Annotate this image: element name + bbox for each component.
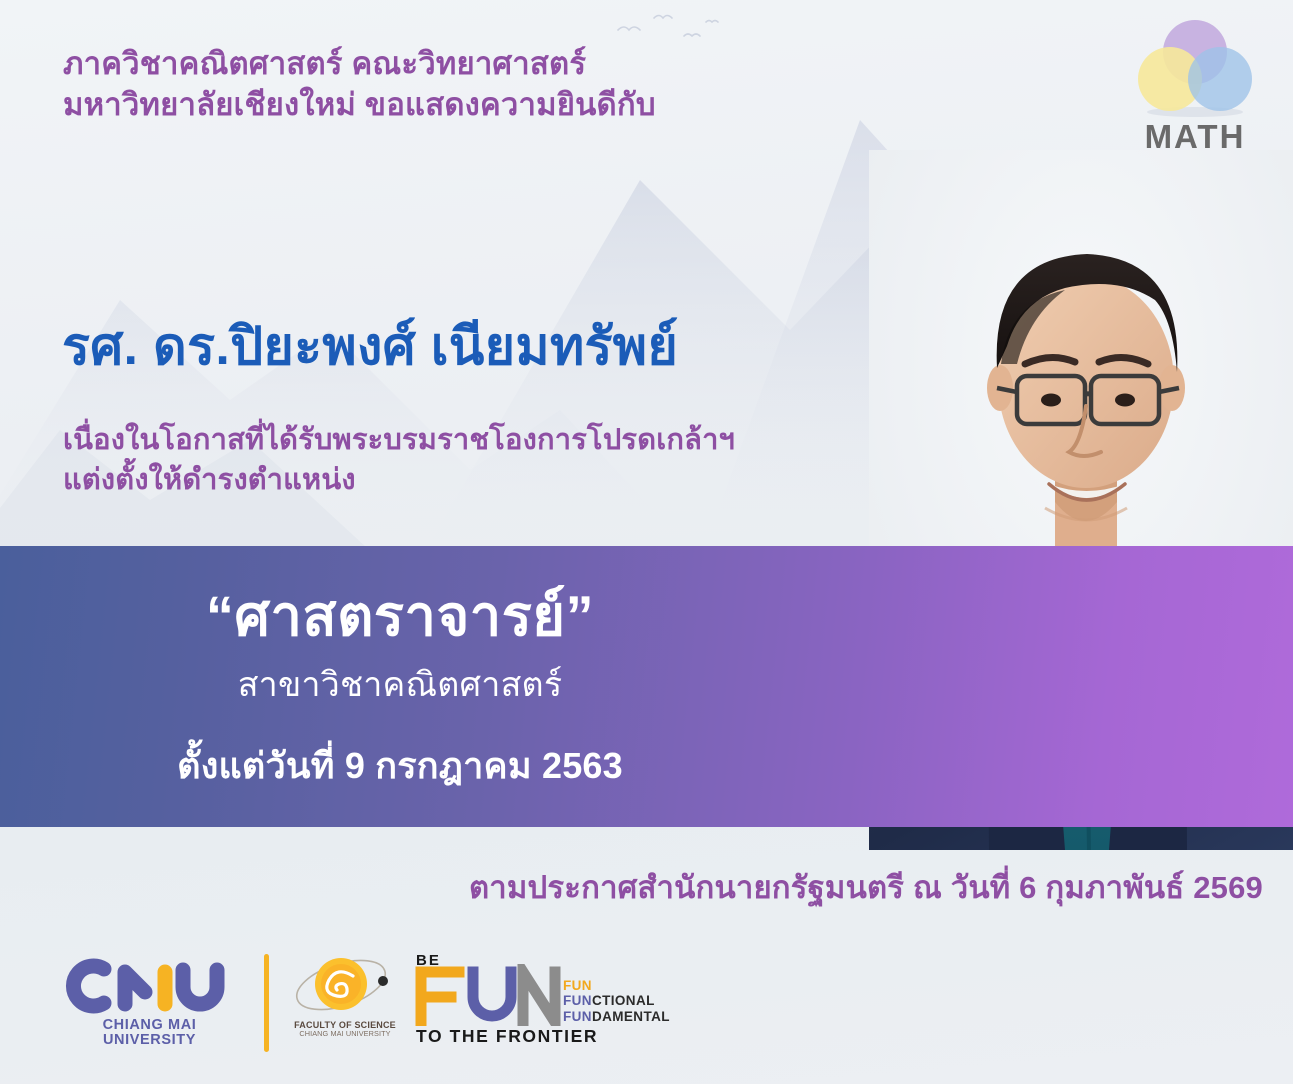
- honoree-name: รศ. ดร.ปิยะพงศ์ เนียมทรัพย์: [62, 318, 678, 378]
- fun-stack-line-2: FUNCTIONAL: [563, 993, 670, 1008]
- banner-content: “ศาสตราจารย์” สาขาวิชาคณิตศาสตร์ ตั้งแต่…: [0, 546, 800, 827]
- footer-divider: [264, 954, 269, 1052]
- fun-wordmark-icon: [413, 964, 561, 1026]
- faculty-of-science-logo: FACULTY OF SCIENCE CHIANG MAI UNIVERSITY: [291, 952, 399, 1052]
- fun-stack-3-prefix: FUN: [563, 1009, 592, 1024]
- math-wordmark: MATH: [1125, 120, 1265, 153]
- appointment-reason: เนื่องในโอกาสที่ได้รับพระบรมราชโองการโปร…: [63, 420, 883, 500]
- fun-stack-3-suffix: DAMENTAL: [592, 1009, 670, 1024]
- fun-stack-2-prefix: FUN: [563, 993, 592, 1008]
- position-field: สาขาวิชาคณิตศาสตร์: [0, 668, 800, 702]
- fun-stack-2-suffix: CTIONAL: [592, 993, 655, 1008]
- be-fun-logo: BE FUN FUNCTIONAL FUNDAMENTAL TO THE FRO…: [413, 950, 713, 1055]
- header-line-1: ภาควิชาคณิตศาสตร์ คณะวิทยาศาสตร์: [63, 44, 823, 85]
- fun-frontier-label: TO THE FRONTIER: [416, 1026, 598, 1047]
- announcement-text: ตามประกาศสำนักนายกรัฐมนตรี ณ วันที่ 6 กุ…: [0, 862, 1263, 912]
- congratulations-poster: ภาควิชาคณิตศาสตร์ คณะวิทยาศาสตร์ มหาวิทย…: [0, 0, 1293, 1084]
- header-line-2: มหาวิทยาลัยเชียงใหม่ ขอแสดงความยินดีกับ: [63, 85, 823, 126]
- position-title: “ศาสตราจารย์”: [0, 588, 800, 644]
- cmu-university-name: CHIANG MAI UNIVERSITY: [57, 1018, 242, 1047]
- fun-tagline-stack: FUN FUNCTIONAL FUNDAMENTAL: [563, 978, 670, 1024]
- fun-stack-1-text: FUN: [563, 978, 592, 993]
- department-header: ภาควิชาคณิตศาสตร์ คณะวิทยาศาสตร์ มหาวิทย…: [63, 44, 823, 126]
- cmu-wordmark-icon: [57, 956, 242, 1016]
- fun-stack-line-1: FUN: [563, 978, 670, 993]
- footer-logos: CHIANG MAI UNIVERSITY FACULTY OF SCIENCE…: [57, 948, 713, 1058]
- effective-date: ตั้งแต่วันที่ 9 กรกฎาคม 2563: [0, 748, 800, 784]
- reason-line-1: เนื่องในโอกาสที่ได้รับพระบรมราชโองการโปร…: [63, 420, 883, 460]
- faculty-university: CHIANG MAI UNIVERSITY: [291, 1030, 399, 1038]
- faculty-name: FACULTY OF SCIENCE CHIANG MAI UNIVERSITY: [291, 1020, 399, 1039]
- reason-line-2: แต่งตั้งให้ดำรงตำแหน่ง: [63, 460, 883, 500]
- venn-diagram-icon: [1125, 16, 1265, 120]
- position-banner: “ศาสตราจารย์” สาขาวิชาคณิตศาสตร์ ตั้งแต่…: [0, 546, 1293, 827]
- science-spiral-icon: [291, 952, 399, 1018]
- fun-stack-line-3: FUNDAMENTAL: [563, 1009, 670, 1024]
- cmu-logo: CHIANG MAI UNIVERSITY: [57, 956, 242, 1051]
